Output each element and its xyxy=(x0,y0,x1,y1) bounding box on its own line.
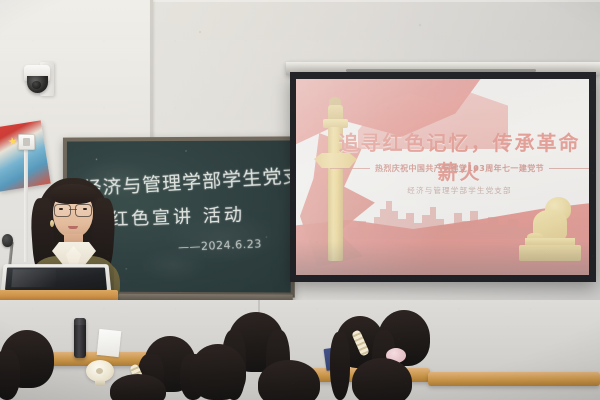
monitor-screen xyxy=(5,268,107,290)
subtitle-rule-right xyxy=(549,168,589,169)
portable-fan xyxy=(86,360,114,386)
projection-screen-surface: 追寻红色记忆，传承革命薪火 热烈庆祝中国共产党建党103周年七一建党节 经济与管… xyxy=(296,79,589,275)
fan-head xyxy=(86,360,114,382)
slide-subtitle: 热烈庆祝中国共产党建党103周年七一建党节 xyxy=(375,163,544,174)
security-camera-icon xyxy=(24,62,56,96)
blackboard-subheading: 红色宣讲 活动 xyxy=(110,200,246,231)
paper-sheet xyxy=(97,329,122,357)
audience-head xyxy=(190,344,246,400)
classroom-photo-scene: ★ 经济与管理学部学生党支部 红色宣讲 活动 ——2024.6.23 xyxy=(0,0,600,400)
star-icon: ★ xyxy=(7,136,18,148)
microphone-icon xyxy=(2,234,13,247)
audience-head xyxy=(110,374,166,400)
scene-element xyxy=(75,204,92,217)
blackboard-date: ——2024.6.23 xyxy=(178,237,262,254)
pillar-top xyxy=(328,105,343,119)
thermos-bottle xyxy=(74,318,86,358)
slide-subtitle-row: 热烈庆祝中国共产党建党103周年七一建党节 xyxy=(296,163,589,174)
presentation-slide: 追寻红色记忆，传承革命薪火 热烈庆祝中国共产党建党103周年七一建党节 经济与管… xyxy=(296,79,589,275)
audience-hair xyxy=(330,332,350,400)
light-switch[interactable] xyxy=(18,134,35,150)
subtitle-rule-left xyxy=(330,168,370,169)
fan-base xyxy=(95,380,105,386)
projection-screen: 追寻红色记忆，传承革命薪火 热烈庆祝中国共产党建党103周年七一建党节 经济与管… xyxy=(290,72,596,282)
desk-row-right xyxy=(428,372,600,386)
scene-element xyxy=(23,138,30,146)
lion-pedestal xyxy=(519,245,581,261)
ceiling-edge xyxy=(150,0,600,2)
guardian-lion-icon xyxy=(519,191,581,261)
speaker-bangs xyxy=(50,184,96,204)
slide-title: 追寻红色记忆，传承革命薪火 xyxy=(296,127,589,185)
slide-organization: 经济与管理学部学生党支部 xyxy=(296,185,589,196)
audience-head xyxy=(352,358,412,400)
audience-head xyxy=(258,360,320,400)
camera-lens xyxy=(32,81,41,89)
earring-icon xyxy=(50,220,54,227)
scene-element xyxy=(54,204,71,217)
